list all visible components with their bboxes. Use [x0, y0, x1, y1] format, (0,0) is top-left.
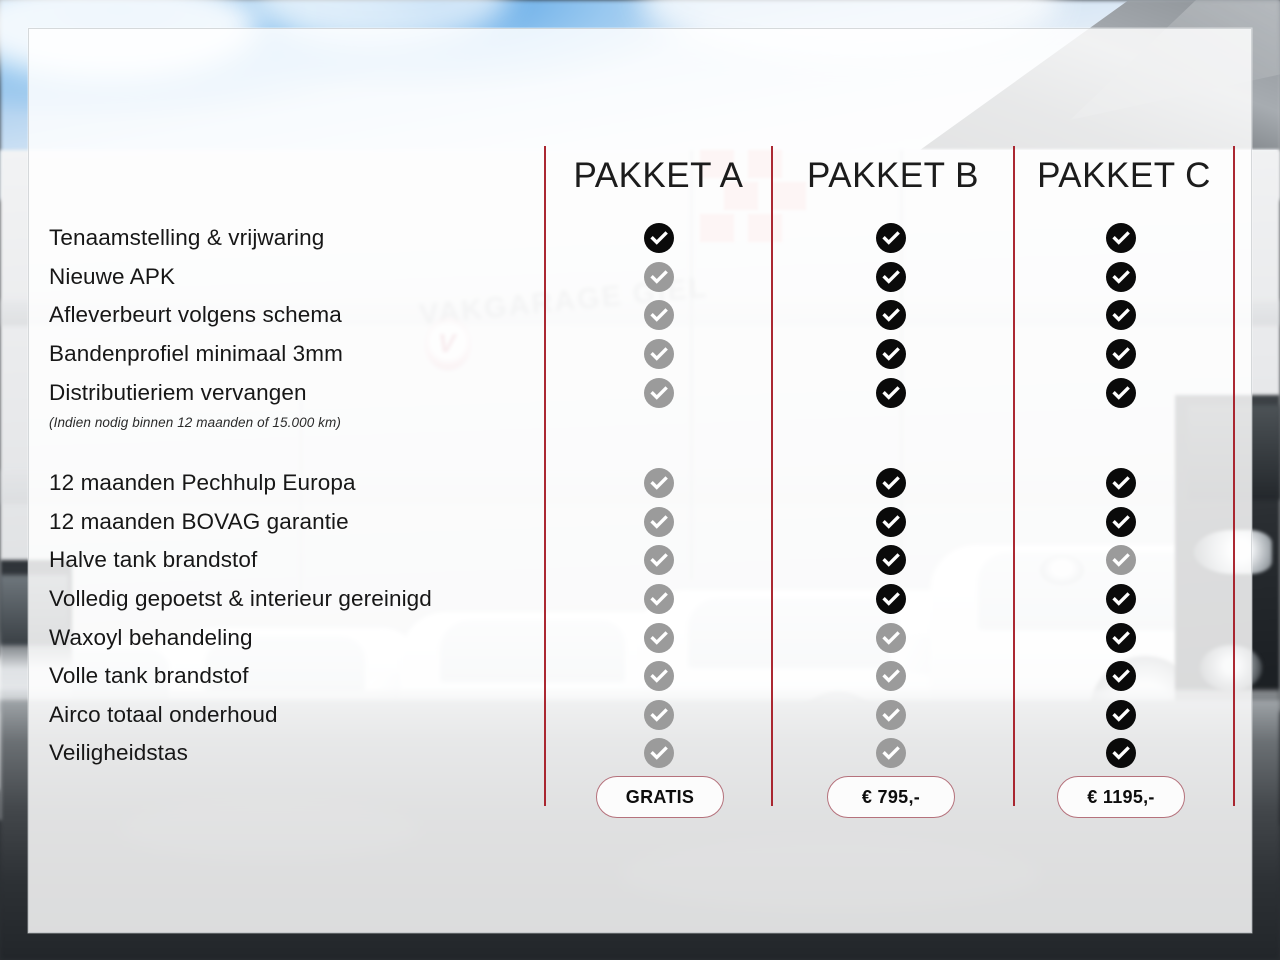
feature-label: Tenaamstelling & vrijwaring — [49, 219, 529, 258]
check-column-pakket-c — [1091, 219, 1151, 773]
check-row — [1091, 335, 1151, 374]
check-row — [861, 258, 921, 297]
column-header-pakket-a: PAKKET A — [546, 147, 771, 205]
check-row — [1091, 618, 1151, 657]
check-row — [629, 258, 689, 297]
check-circle-muted-icon — [876, 623, 906, 653]
check-circle-filled-icon — [1106, 339, 1136, 369]
check-row — [1091, 296, 1151, 335]
check-circle-filled-icon — [876, 545, 906, 575]
check-circle-filled-icon — [876, 584, 906, 614]
column-header-pakket-c: PAKKET C — [1015, 147, 1233, 205]
check-row — [861, 412, 921, 434]
check-circle-muted-icon — [644, 468, 674, 498]
check-row — [629, 657, 689, 696]
check-circle-muted-icon — [644, 584, 674, 614]
check-circle-filled-icon — [1106, 661, 1136, 691]
check-circle-muted-icon — [644, 545, 674, 575]
price-button-pakket-a[interactable]: GRATIS — [596, 776, 724, 818]
feature-label: Halve tank brandstof — [49, 541, 529, 580]
check-row — [861, 503, 921, 542]
check-row — [1091, 503, 1151, 542]
check-circle-filled-icon — [1106, 507, 1136, 537]
check-circle-filled-icon — [1106, 300, 1136, 330]
check-circle-filled-icon — [1106, 223, 1136, 253]
column-divider — [771, 146, 773, 806]
check-circle-filled-icon — [876, 339, 906, 369]
check-circle-filled-icon — [1106, 700, 1136, 730]
check-row — [629, 412, 689, 434]
package-comparison-card: PAKKET A PAKKET B PAKKET C Tenaamstellin… — [28, 28, 1252, 933]
check-circle-filled-icon — [876, 223, 906, 253]
check-circle-muted-icon — [876, 700, 906, 730]
feature-label: Afleverbeurt volgens schema — [49, 296, 529, 335]
check-row — [1091, 541, 1151, 580]
check-circle-filled-icon — [644, 223, 674, 253]
feature-footnote: (Indien nodig binnen 12 maanden of 15.00… — [49, 412, 529, 434]
check-row — [861, 734, 921, 773]
check-row — [861, 335, 921, 374]
feature-label: Airco totaal onderhoud — [49, 696, 529, 735]
feature-label: Distributieriem vervangen — [49, 373, 529, 412]
check-row — [1091, 580, 1151, 619]
feature-label: 12 maanden BOVAG garantie — [49, 503, 529, 542]
check-circle-filled-icon — [1106, 584, 1136, 614]
feature-label: Volle tank brandstof — [49, 657, 529, 696]
check-row — [861, 219, 921, 258]
check-row — [861, 296, 921, 335]
check-circle-filled-icon — [876, 262, 906, 292]
feature-label: Volledig gepoetst & interieur gereinigd — [49, 580, 529, 619]
check-column-pakket-b — [861, 219, 921, 773]
check-row — [629, 580, 689, 619]
price-button-pakket-c[interactable]: € 1195,- — [1057, 776, 1185, 818]
check-circle-muted-icon — [644, 300, 674, 330]
check-circle-filled-icon — [876, 507, 906, 537]
check-row — [1091, 258, 1151, 297]
column-divider — [1233, 146, 1235, 806]
check-row — [1091, 434, 1151, 464]
feature-label: 12 maanden Pechhulp Europa — [49, 464, 529, 503]
check-row — [629, 219, 689, 258]
check-row — [629, 696, 689, 735]
check-row — [861, 434, 921, 464]
check-circle-muted-icon — [644, 661, 674, 691]
check-row — [1091, 464, 1151, 503]
check-row — [861, 373, 921, 412]
check-circle-muted-icon — [644, 262, 674, 292]
feature-group-spacer — [49, 434, 529, 464]
check-circle-muted-icon — [1106, 545, 1136, 575]
check-circle-filled-icon — [1106, 378, 1136, 408]
check-circle-filled-icon — [1106, 468, 1136, 498]
check-circle-muted-icon — [644, 378, 674, 408]
check-circle-muted-icon — [876, 738, 906, 768]
column-divider — [544, 146, 546, 806]
check-row — [861, 618, 921, 657]
check-circle-muted-icon — [644, 738, 674, 768]
column-divider — [1013, 146, 1015, 806]
check-row — [629, 464, 689, 503]
check-row — [1091, 412, 1151, 434]
check-circle-muted-icon — [644, 339, 674, 369]
check-row — [861, 657, 921, 696]
check-circle-muted-icon — [876, 661, 906, 691]
check-row — [629, 503, 689, 542]
check-circle-muted-icon — [644, 700, 674, 730]
check-row — [1091, 373, 1151, 412]
check-circle-filled-icon — [876, 468, 906, 498]
check-row — [629, 335, 689, 374]
feature-label: Veiligheidstas — [49, 734, 529, 773]
feature-label: Bandenprofiel minimaal 3mm — [49, 335, 529, 374]
check-column-pakket-a — [629, 219, 689, 773]
check-row — [1091, 696, 1151, 735]
feature-list: Tenaamstelling & vrijwaring Nieuwe APK A… — [49, 219, 529, 773]
check-row — [861, 696, 921, 735]
check-row — [629, 296, 689, 335]
check-row — [861, 541, 921, 580]
column-header-pakket-b: PAKKET B — [773, 147, 1013, 205]
check-circle-filled-icon — [1106, 623, 1136, 653]
check-row — [1091, 219, 1151, 258]
check-circle-filled-icon — [1106, 738, 1136, 768]
check-row — [629, 618, 689, 657]
check-row — [861, 580, 921, 619]
check-row — [629, 434, 689, 464]
price-button-pakket-b[interactable]: € 795,- — [827, 776, 955, 818]
check-row — [629, 541, 689, 580]
check-row — [629, 734, 689, 773]
check-row — [1091, 657, 1151, 696]
check-circle-muted-icon — [644, 507, 674, 537]
check-circle-filled-icon — [1106, 262, 1136, 292]
check-row — [861, 464, 921, 503]
check-row — [1091, 734, 1151, 773]
feature-label: Nieuwe APK — [49, 258, 529, 297]
check-circle-muted-icon — [644, 623, 674, 653]
check-row — [629, 373, 689, 412]
check-circle-filled-icon — [876, 300, 906, 330]
check-circle-filled-icon — [876, 378, 906, 408]
feature-label: Waxoyl behandeling — [49, 618, 529, 657]
